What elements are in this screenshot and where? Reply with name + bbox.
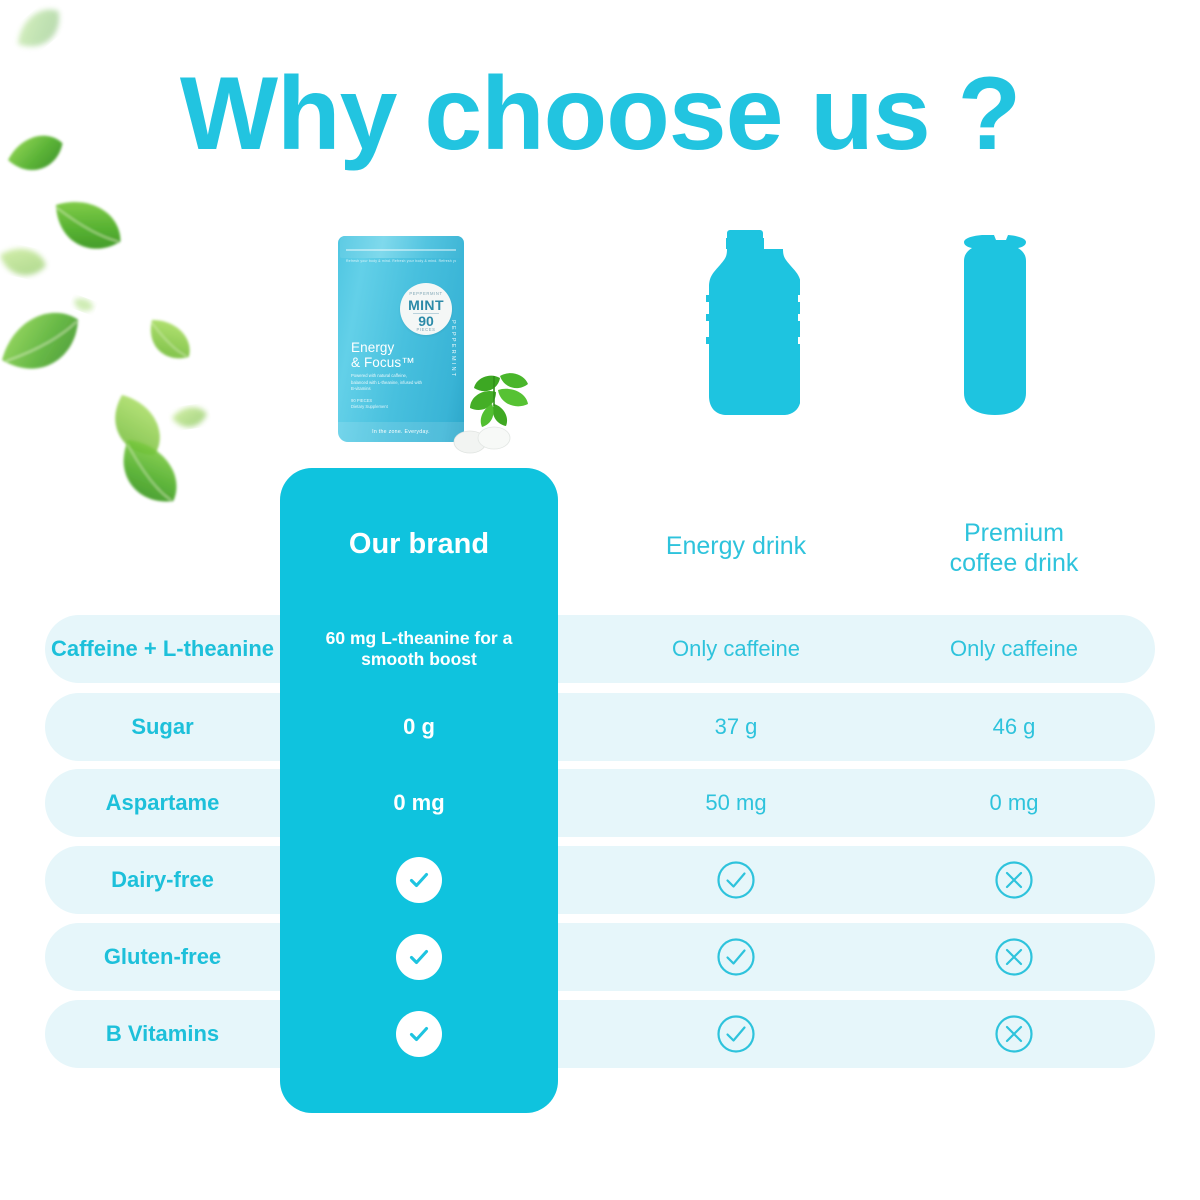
- row-energy-gluten-free: [598, 923, 874, 991]
- x-circle-outline-icon: [993, 936, 1035, 978]
- check-solid-icon: [396, 857, 442, 903]
- row-label-aspartame: Aspartame: [45, 769, 280, 837]
- pouch-headline-tm: ™: [401, 355, 415, 370]
- row-energy-sugar: 37 g: [598, 693, 874, 761]
- check-circle-outline-icon: [715, 1013, 757, 1055]
- row-brand-sugar: 0 g: [280, 693, 558, 761]
- column-header-energy-drink: Energy drink: [598, 532, 874, 562]
- row-energy-caffeine-theanine: Only caffeine: [598, 615, 874, 683]
- row-energy-b-vitamins: [598, 1000, 874, 1068]
- check-solid-icon: [396, 1011, 442, 1057]
- row-coffee-gluten-free: [876, 923, 1152, 991]
- pouch-headline-line1: Energy: [351, 340, 394, 355]
- pouch-headline-line2: & Focus: [351, 355, 401, 370]
- row-brand-aspartame: 0 mg: [280, 769, 558, 837]
- check-solid-icon: [396, 934, 442, 980]
- pouch-description: Powered with natural caffeine, balanced …: [351, 373, 425, 393]
- row-energy-aspartame: 50 mg: [598, 769, 874, 837]
- row-label-dairy-free: Dairy-free: [45, 846, 280, 914]
- comparison-table: Our brand Energy drink Premium coffee dr…: [0, 0, 1200, 1200]
- column-header-premium-coffee: Premium coffee drink: [876, 519, 1152, 578]
- column-header-premium-coffee-line1: Premium: [964, 519, 1064, 547]
- pouch-count-block: 90 PIECES Dietary Supplement: [351, 398, 425, 410]
- premium-coffee-can-icon: [940, 228, 1050, 438]
- table-header-row: Our brand Energy drink Premium coffee dr…: [0, 505, 1200, 600]
- column-header-our-brand: Our brand: [280, 527, 558, 561]
- badge-top-text: PEPPERMINT: [400, 291, 452, 296]
- row-brand-caffeine-theanine: 60 mg L-theanine for a smooth boost: [280, 615, 558, 683]
- x-circle-outline-icon: [993, 1013, 1035, 1055]
- pouch-mint-badge: PEPPERMINT MINT 90 PIECES: [400, 283, 452, 335]
- badge-flavor-name: MINT: [400, 297, 452, 313]
- pouch-headline: Energy & Focus™: [351, 340, 415, 370]
- column-header-premium-coffee-line2: coffee drink: [950, 549, 1079, 577]
- check-circle-outline-icon: [715, 936, 757, 978]
- row-label-gluten-free: Gluten-free: [45, 923, 280, 991]
- page-title: Why choose us ?: [0, 62, 1200, 166]
- row-label-b-vitamins: B Vitamins: [45, 1000, 280, 1068]
- row-coffee-b-vitamins: [876, 1000, 1152, 1068]
- pouch-micro-text: Refresh your body & mind. Refresh your b…: [346, 259, 456, 263]
- x-circle-outline-icon: [993, 859, 1035, 901]
- row-coffee-dairy-free: [876, 846, 1152, 914]
- product-image-row: Refresh your body & mind. Refresh your b…: [0, 218, 1200, 468]
- row-coffee-caffeine-theanine: Only caffeine: [876, 615, 1152, 683]
- pouch-count-line2: Dietary Supplement: [351, 404, 425, 410]
- row-energy-dairy-free: [598, 846, 874, 914]
- row-brand-gluten-free: [280, 923, 558, 991]
- row-label-sugar: Sugar: [45, 693, 280, 761]
- badge-bottom-text: PIECES: [400, 327, 452, 332]
- energy-drink-bottle-icon: [690, 228, 800, 438]
- pouch-seal: [340, 236, 462, 258]
- row-coffee-sugar: 46 g: [876, 693, 1152, 761]
- row-brand-b-vitamins: [280, 1000, 558, 1068]
- mint-sprig-and-tablets: [440, 368, 550, 458]
- check-circle-outline-icon: [715, 859, 757, 901]
- row-brand-dairy-free: [280, 846, 558, 914]
- row-label-caffeine-theanine: Caffeine + L-theanine: [45, 615, 280, 683]
- row-coffee-aspartame: 0 mg: [876, 769, 1152, 837]
